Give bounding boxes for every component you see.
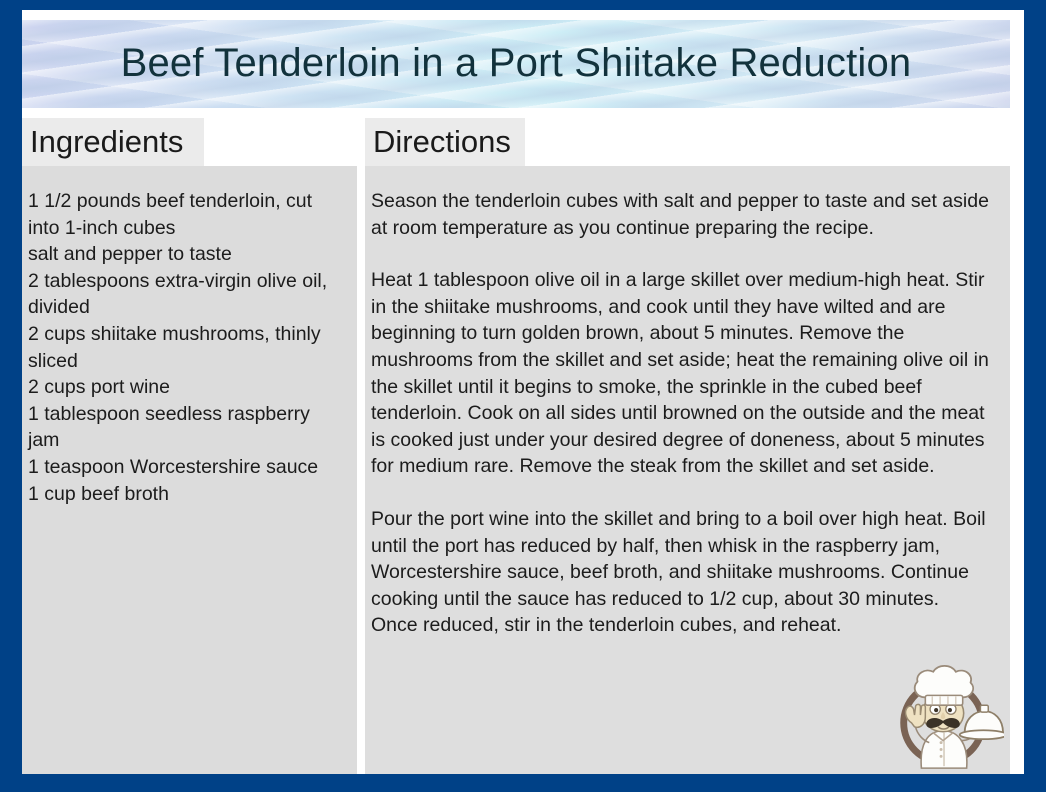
ingredients-column: Ingredients 1 1/2 pounds beef tenderloin… <box>22 118 357 774</box>
directions-panel: Season the tenderloin cubes with salt an… <box>365 166 1010 774</box>
list-item: 2 cups shiitake mushrooms, thinly sliced <box>28 321 343 374</box>
direction-paragraph: Pour the port wine into the skillet and … <box>371 506 990 639</box>
list-item: 1 cup beef broth <box>28 481 343 508</box>
ingredients-list: 1 1/2 pounds beef tenderloin, cut into 1… <box>28 188 343 507</box>
chef-with-cloche-logo <box>886 658 1004 774</box>
ingredients-heading: Ingredients <box>30 124 183 160</box>
direction-paragraph: Season the tenderloin cubes with salt an… <box>371 188 990 241</box>
ingredients-panel: 1 1/2 pounds beef tenderloin, cut into 1… <box>22 166 357 774</box>
list-item: 1 1/2 pounds beef tenderloin, cut into 1… <box>28 188 343 241</box>
recipe-card: Beef Tenderloin in a Port Shiitake Reduc… <box>0 0 1046 792</box>
list-item: 1 tablespoon seedless raspberry jam <box>28 401 343 454</box>
recipe-title: Beef Tenderloin in a Port Shiitake Reduc… <box>121 41 912 88</box>
list-item: salt and pepper to taste <box>28 241 343 268</box>
directions-column: Directions Season the tenderloin cubes w… <box>365 118 1010 774</box>
directions-heading: Directions <box>373 124 511 160</box>
ingredients-tab: Ingredients <box>22 118 204 166</box>
direction-paragraph: Heat 1 tablespoon olive oil in a large s… <box>371 267 990 480</box>
list-item: 2 cups port wine <box>28 374 343 401</box>
directions-body: Season the tenderloin cubes with salt an… <box>371 188 990 639</box>
directions-tab: Directions <box>365 118 525 166</box>
recipe-card-inner: Beef Tenderloin in a Port Shiitake Reduc… <box>22 10 1024 774</box>
list-item: 2 tablespoons extra-virgin olive oil, di… <box>28 268 343 321</box>
title-banner: Beef Tenderloin in a Port Shiitake Reduc… <box>22 20 1010 108</box>
list-item: 1 teaspoon Worcestershire sauce <box>28 454 343 481</box>
